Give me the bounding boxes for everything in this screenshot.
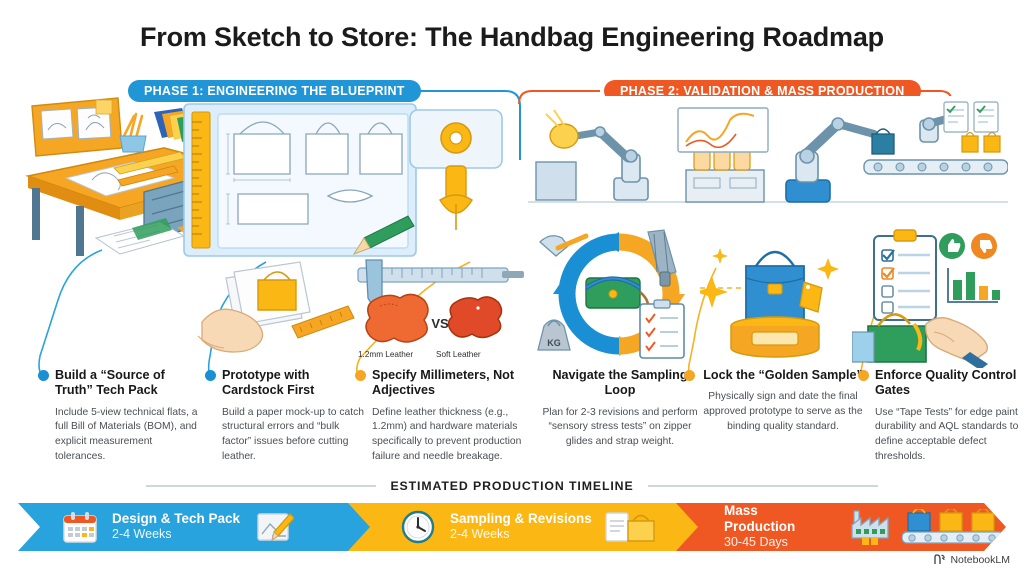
drafting-pencil-icon bbox=[256, 510, 294, 544]
illustration-tech-pack-blueprint bbox=[178, 98, 428, 266]
infographic-canvas: From Sketch to Store: The Handbag Engine… bbox=[0, 0, 1024, 572]
sample-bag-icon bbox=[604, 509, 660, 545]
step-body-1: Include 5-view technical flats, a full B… bbox=[55, 406, 205, 464]
svg-text:VS: VS bbox=[431, 316, 449, 331]
calendar-icon bbox=[62, 510, 98, 544]
step-heading-3: Specify Millimeters, Not Adjectives bbox=[372, 368, 524, 399]
step-heading-1: Build a “Source of Truth” Tech Pack bbox=[55, 368, 205, 399]
notebooklm-logo-icon bbox=[933, 553, 946, 566]
leather-thick-label: 1.2mm Leather bbox=[358, 350, 413, 359]
timeline-stage-sampling[interactable]: Sampling & Revisions 2-4 Weeks bbox=[348, 503, 700, 551]
step-body-3: Define leather thickness (e.g., 1.2mm) a… bbox=[372, 406, 524, 464]
prototype-bag-icon bbox=[586, 277, 648, 318]
illustration-hardware-clasp bbox=[404, 104, 512, 250]
step-card-2: Prototype with Cardstock First Build a p… bbox=[222, 368, 368, 464]
corkboard-icon bbox=[32, 98, 122, 156]
page-title: From Sketch to Store: The Handbag Engine… bbox=[0, 22, 1024, 53]
timeline-rule-right bbox=[648, 485, 878, 487]
timeline-stage-1-duration: 2-4 Weeks bbox=[112, 527, 240, 543]
step-body-2: Build a paper mock-up to catch structura… bbox=[222, 406, 368, 464]
leather-swatch-soft bbox=[449, 297, 502, 338]
step-body-6: Use “Tape Tests” for edge paint durabili… bbox=[875, 406, 1023, 464]
leather-swatch-thick bbox=[366, 294, 428, 342]
timeline-stage-production[interactable]: Mass Production 30-45 Days bbox=[676, 503, 1006, 551]
illustration-cardstock-prototype bbox=[196, 252, 364, 364]
step-marker-dot-5 bbox=[684, 370, 695, 381]
step-card-4: Navigate the Sampling Loop Plan for 2-3 … bbox=[540, 368, 700, 450]
illustration-sampling-loop: KG bbox=[524, 228, 714, 368]
step-heading-4: Navigate the Sampling Loop bbox=[540, 368, 700, 399]
performance-chart-panel bbox=[678, 108, 768, 152]
step-heading-5: Lock the “Golden Sample” bbox=[700, 368, 866, 383]
timeline-stage-design[interactable]: Design & Tech Pack 2-4 Weeks bbox=[18, 503, 372, 551]
thumbs-down-icon bbox=[971, 233, 997, 259]
step-card-3: Specify Millimeters, Not Adjectives Defi… bbox=[372, 368, 524, 464]
timeline-rule-left bbox=[146, 485, 376, 487]
pencil-cup-icon bbox=[120, 114, 146, 152]
defect-bar-chart bbox=[948, 268, 1000, 302]
step-heading-6: Enforce Quality Control Gates bbox=[875, 368, 1023, 399]
hangtag-icon bbox=[800, 282, 822, 312]
timeline-header-label: ESTIMATED PRODUCTION TIMELINE bbox=[390, 479, 633, 493]
step-marker-dot-6 bbox=[858, 370, 869, 381]
step-body-5: Physically sign and date the final appro… bbox=[700, 390, 866, 434]
timeline-stage-2-duration: 2-4 Weeks bbox=[450, 527, 592, 543]
timeline-stage-3-duration: 30-45 Days bbox=[724, 535, 832, 551]
step-card-6: Enforce Quality Control Gates Use “Tape … bbox=[875, 368, 1023, 464]
golden-sample-bag-icon bbox=[746, 252, 804, 322]
illustration-golden-sample bbox=[700, 230, 860, 370]
leather-hide-icon bbox=[550, 124, 578, 148]
clock-icon bbox=[400, 509, 436, 545]
steps-row: Build a “Source of Truth” Tech Pack Incl… bbox=[0, 368, 1024, 478]
timeline-stage-2-label: Sampling & Revisions bbox=[450, 511, 592, 527]
timeline-bar: Design & Tech Pack 2-4 Weeks bbox=[18, 503, 1006, 551]
notebooklm-watermark: NotebookLM bbox=[933, 553, 1010, 566]
handbag-on-line bbox=[872, 134, 894, 154]
qc-checklist-icon bbox=[874, 230, 936, 320]
step-card-1: Build a “Source of Truth” Tech Pack Incl… bbox=[55, 368, 205, 464]
step-body-4: Plan for 2-3 revisions and perform “sens… bbox=[540, 406, 700, 450]
conveyor-bags-icon bbox=[902, 509, 1006, 545]
inspector-hand-icon bbox=[926, 318, 988, 368]
revision-checklist-icon bbox=[640, 300, 684, 358]
step-marker-dot-3 bbox=[355, 370, 366, 381]
step-heading-2: Prototype with Cardstock First bbox=[222, 368, 368, 399]
weight-kg-icon: KG bbox=[538, 320, 570, 350]
illustration-quality-control bbox=[852, 228, 1024, 368]
illustration-leather-comparison: VS bbox=[352, 252, 532, 364]
illustration-factory-production-line bbox=[528, 96, 1008, 222]
leather-soft-label: Soft Leather bbox=[436, 350, 481, 359]
notebooklm-watermark-label: NotebookLM bbox=[950, 554, 1010, 566]
step-marker-dot-1 bbox=[38, 370, 49, 381]
timeline-header: ESTIMATED PRODUCTION TIMELINE bbox=[0, 479, 1024, 493]
step-card-5: Lock the “Golden Sample” Physically sign… bbox=[700, 368, 866, 434]
step-marker-dot-2 bbox=[205, 370, 216, 381]
svg-text:KG: KG bbox=[547, 338, 561, 348]
factory-icon bbox=[848, 509, 892, 545]
thumbs-up-icon bbox=[939, 233, 965, 259]
timeline-stage-3-label: Mass Production bbox=[724, 503, 832, 535]
timeline-stage-1-label: Design & Tech Pack bbox=[112, 511, 240, 527]
